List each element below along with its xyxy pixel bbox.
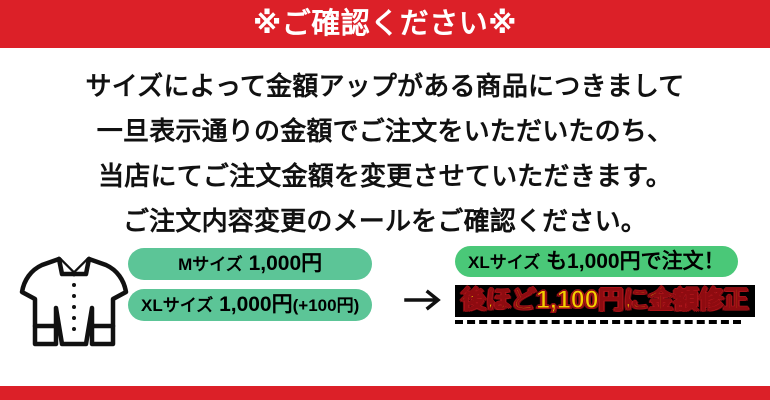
badge-xl-size-after-price: も1,000円で注文！ bbox=[546, 250, 725, 273]
badge-xl-size-before: XLサイズ 1,000円(+100円) bbox=[128, 289, 372, 321]
badge-xl-size-before-price: 1,000円 bbox=[219, 293, 293, 316]
notice-graphic: ※ご確認ください※ サイズによって金額アップがある商品につきまして 一旦表示通り… bbox=[0, 0, 770, 400]
footer-bar bbox=[0, 386, 770, 400]
price-comparison: Mサイズ 1,000円 XLサイズ 1,000円(+100円) XLサイズ も1… bbox=[0, 244, 770, 362]
notice-line-3: 当店にてご注文金額を変更させていただきます。 bbox=[0, 154, 770, 199]
notice-body: サイズによって金額アップがある商品につきまして 一旦表示通りの金額でご注文をいた… bbox=[0, 48, 770, 244]
price-correction-text: 後ほど1,100円に金額修正 bbox=[461, 286, 749, 314]
price-correction-highlight: 後ほど1,100円に金額修正 bbox=[455, 285, 755, 317]
badge-xl-size-after: XLサイズ も1,000円で注文！ bbox=[455, 246, 738, 277]
before-price-badges: Mサイズ 1,000円 XLサイズ 1,000円(+100円) bbox=[128, 248, 372, 321]
badge-xl-size-after-label: XLサイズ も1,000円で注文！ bbox=[468, 251, 725, 272]
badge-m-size-name: Mサイズ bbox=[178, 255, 243, 274]
notice-line-2: 一旦表示通りの金額でご注文をいただいたのち、 bbox=[0, 109, 770, 154]
dashed-underline bbox=[455, 320, 741, 324]
notice-line-1: サイズによって金額アップがある商品につきまして bbox=[0, 64, 770, 109]
badge-xl-size-before-name: XLサイズ bbox=[141, 296, 213, 315]
arrow-right-icon bbox=[404, 287, 450, 313]
badge-m-size-label: Mサイズ 1,000円 bbox=[178, 253, 322, 274]
after-price-block: XLサイズ も1,000円で注文！ 後ほど1,100円に金額修正 bbox=[455, 246, 755, 324]
dress-shirt-icon bbox=[18, 250, 130, 350]
header-banner: ※ご確認ください※ bbox=[0, 0, 770, 48]
badge-xl-size-before-label: XLサイズ 1,000円(+100円) bbox=[141, 294, 359, 315]
badge-xl-size-before-suffix: (+100円) bbox=[293, 296, 360, 315]
banner-title: ※ご確認ください※ bbox=[253, 10, 517, 39]
badge-xl-size-after-name: XLサイズ bbox=[468, 253, 540, 272]
badge-m-size: Mサイズ 1,000円 bbox=[128, 248, 372, 280]
badge-m-size-price: 1,000円 bbox=[249, 252, 323, 275]
notice-line-4: ご注文内容変更のメールをご確認ください。 bbox=[0, 199, 770, 244]
